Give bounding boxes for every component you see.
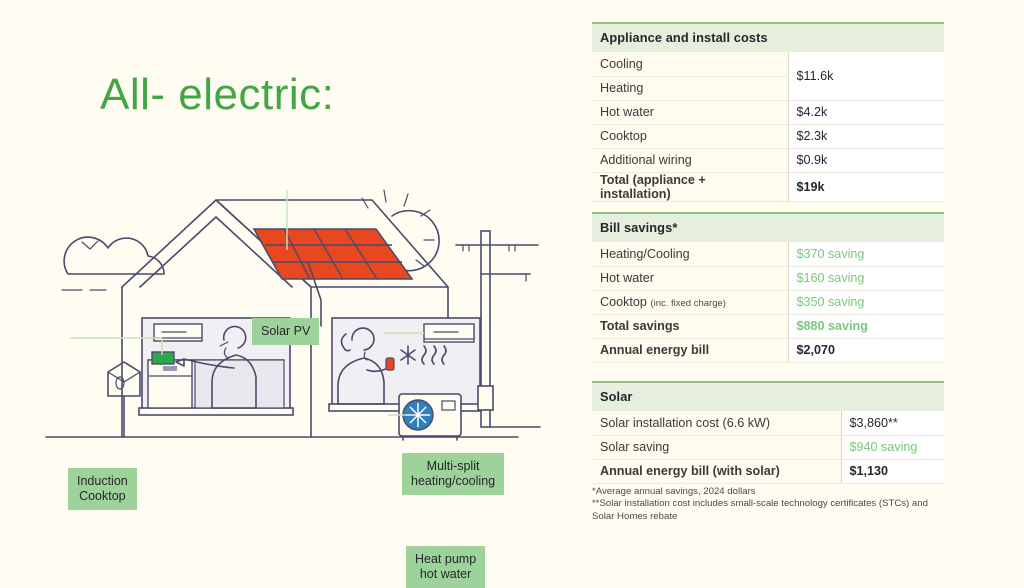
table-row-total: Annual energy bill (with solar) $1,130 [592,459,944,483]
footnotes: *Average annual savings, 2024 dollars **… [592,486,952,523]
callout-solar-pv-label: Solar PV [261,324,310,338]
table-row-total: Total (appliance + installation) $19k [592,172,944,201]
heat-pump-outdoor-unit [399,394,461,440]
table-row-total: Total savings $880 saving [592,314,944,338]
row-label-additional-wiring: Additional wiring [592,148,788,172]
living-room [329,318,483,440]
row-label-solar-installation-cost: Solar installation cost (6.6 kW) [592,411,841,435]
table-row: Cooktop $2.3k [592,124,944,148]
row-value-annual-energy-bill: $2,070 [788,338,944,362]
callout-heat-pump-hot-water: Heat pump hot water [406,546,485,588]
row-label-cooktop: Cooktop [592,124,788,148]
row-label-heating: Heating [592,76,788,100]
table-header-appliance: Appliance and install costs [592,23,944,52]
row-value-solar-installation-cost: $3,860** [841,411,944,435]
house-diagram-svg [20,150,572,470]
table-row: Cooktop (inc. fixed charge) $350 saving [592,290,944,314]
table-row: Annual energy bill $2,070 [592,338,944,362]
table-row: Solar saving $940 saving [592,435,944,459]
row-label-cooling: Cooling [592,52,788,76]
table-row: Solar installation cost (6.6 kW) $3,860*… [592,411,944,435]
row-value-heating-cooling: $370 saving [788,242,944,266]
table-row: Cooling $11.6k [592,52,944,76]
table-row: Hot water $160 saving [592,266,944,290]
table-header-row: Bill savings* [592,213,944,242]
mailbox-icon [108,362,140,437]
row-label-cooktop-saving: Cooktop (inc. fixed charge) [592,290,788,314]
row-label-annual-energy-bill: Annual energy bill [592,338,788,362]
callout-induction-cooktop: Induction Cooktop [68,468,137,510]
row-value-cooktop: $2.3k [788,124,944,148]
row-label-hot-water-saving: Hot water [592,266,788,290]
illustration-panel: All- electric: [0,0,572,538]
row-label-hot-water: Hot water [592,100,788,124]
callout-solar-pv: Solar PV [252,318,319,345]
callout-multi-split-line2: heating/cooling [411,474,495,488]
callout-heat-pump-line1: Heat pump [415,552,476,566]
all-electric-house-illustration: Solar PV Induction Cooktop Multi-split h… [20,150,572,470]
row-label-heating-cooling: Heating/Cooling [592,242,788,266]
row-label-annual-energy-bill-solar: Annual energy bill (with solar) [592,459,841,483]
table-row: Heating/Cooling $370 saving [592,242,944,266]
row-value-hot-water-saving: $160 saving [788,266,944,290]
row-label-solar-saving: Solar saving [592,435,841,459]
row-value-additional-wiring: $0.9k [788,148,944,172]
row-label-total-savings: Total savings [592,314,788,338]
row-label-cooktop-main: Cooktop [600,295,647,309]
table-header-row: Solar [592,382,944,411]
table-appliance-and-install-costs: Appliance and install costs Cooling $11.… [592,22,944,202]
table-row: Hot water $4.2k [592,100,944,124]
page-title: All- electric: [100,70,334,120]
footnote-2: **Solar installation cost includes small… [592,498,952,523]
callout-induction-line1: Induction [77,474,128,488]
table-row: Additional wiring $0.9k [592,148,944,172]
row-value-total-savings: $880 saving [788,314,944,338]
callout-multi-split: Multi-split heating/cooling [402,453,504,495]
induction-cooktop-hob [152,352,174,364]
footnote-1: *Average annual savings, 2024 dollars [592,486,952,498]
row-value-cooktop-saving: $350 saving [788,290,944,314]
solar-panel-array [254,229,412,279]
table-solar: Solar Solar installation cost (6.6 kW) $… [592,381,944,484]
callout-induction-line2: Cooktop [79,489,126,503]
tables-panel: Appliance and install costs Cooling $11.… [592,0,1024,538]
row-label-cooktop-note: (inc. fixed charge) [650,298,726,309]
callout-heat-pump-line2: hot water [420,567,471,581]
row-value-hot-water: $4.2k [788,100,944,124]
callout-multi-split-line1: Multi-split [427,459,480,473]
table-header-bill-savings: Bill savings* [592,213,944,242]
row-value-solar-saving: $940 saving [841,435,944,459]
row-value-annual-energy-bill-solar: $1,130 [841,459,944,483]
bird-icon [82,241,98,249]
cloud-icon [64,237,164,274]
table-header-solar: Solar [592,382,944,411]
row-value-cooling-heating: $11.6k [788,52,944,100]
row-label-total-appliance: Total (appliance + installation) [592,172,788,201]
table-header-row: Appliance and install costs [592,23,944,52]
row-value-total-appliance: $19k [788,172,944,201]
table-bill-savings: Bill savings* Heating/Cooling $370 savin… [592,212,944,363]
